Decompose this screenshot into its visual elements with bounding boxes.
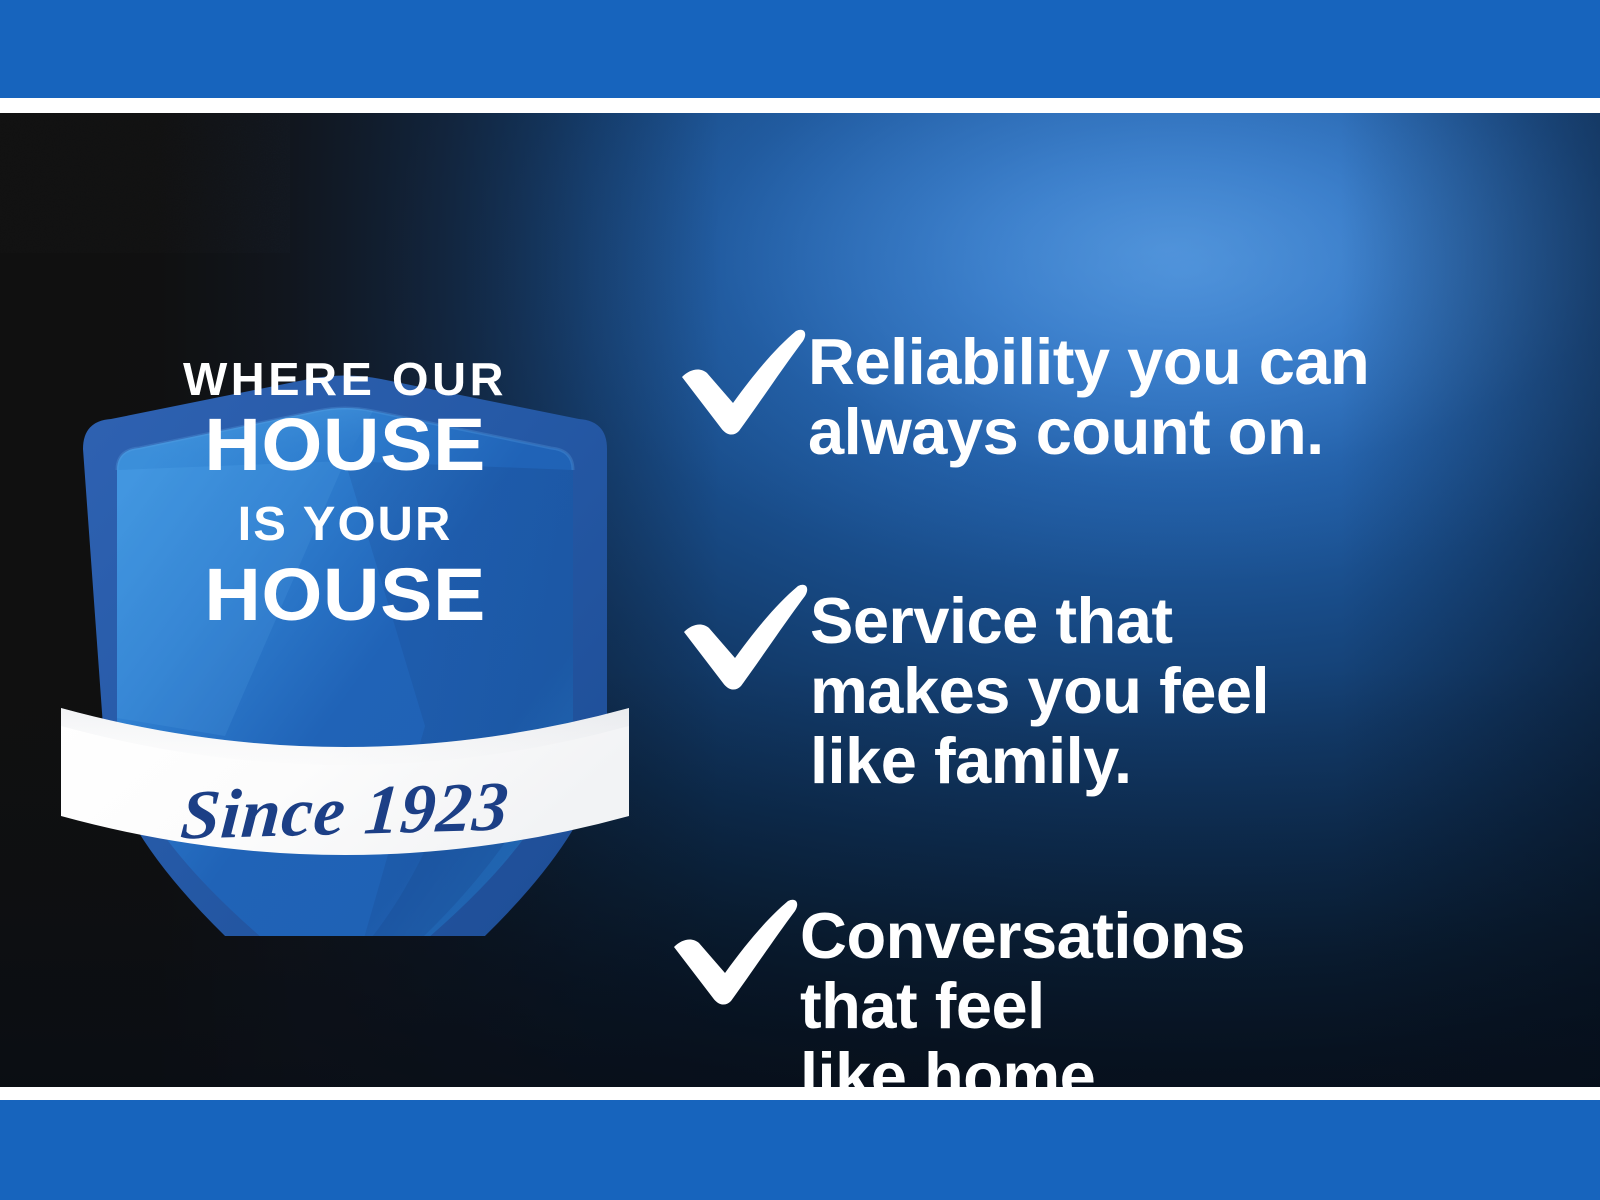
benefit-item: Reliability you can always count on. xyxy=(676,323,1369,467)
benefit-line: Service that xyxy=(810,586,1269,656)
shield-badge: WHERE OUR HOUSE IS YOUR HOUSE Since 1923 xyxy=(55,256,635,936)
benefit-line: Reliability you can xyxy=(808,327,1369,397)
top-brand-bar xyxy=(0,0,1600,98)
benefit-line: Conversations xyxy=(800,901,1245,971)
bottom-brand-bar xyxy=(0,1100,1600,1200)
benefit-item: Conversations that feel like home. xyxy=(668,893,1245,1087)
benefit-line: always count on. xyxy=(808,397,1369,467)
benefit-line: like family. xyxy=(810,726,1269,796)
benefit-line: that feel xyxy=(800,971,1245,1041)
benefit-text: Conversations that feel like home. xyxy=(800,893,1245,1087)
checkmark-icon xyxy=(676,325,808,435)
checkmark-icon xyxy=(668,895,800,1005)
main-stage: WHERE OUR HOUSE IS YOUR HOUSE Since 1923… xyxy=(0,113,1600,1087)
benefit-line: makes you feel xyxy=(810,656,1269,726)
checkmark-icon xyxy=(678,580,810,690)
promo-poster: WHERE OUR HOUSE IS YOUR HOUSE Since 1923… xyxy=(0,0,1600,1200)
ribbon-since-text: Since 1923 xyxy=(51,764,639,860)
benefit-text: Service that makes you feel like family. xyxy=(810,578,1269,797)
benefit-line: like home. xyxy=(800,1041,1245,1087)
right-vignette xyxy=(1340,113,1600,1087)
benefit-item: Service that makes you feel like family. xyxy=(678,578,1269,797)
benefit-text: Reliability you can always count on. xyxy=(808,323,1369,467)
